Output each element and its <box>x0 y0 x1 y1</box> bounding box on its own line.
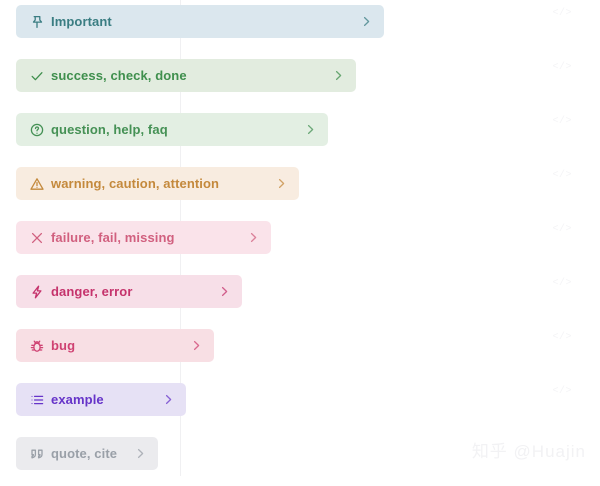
callout-label: danger, error <box>51 284 133 299</box>
callout-row: question, help, faq <box>0 108 600 162</box>
chevron-right-icon[interactable] <box>173 340 202 351</box>
callout-label: failure, fail, missing <box>51 230 175 245</box>
callout-row: bug <box>0 324 600 378</box>
callout-example[interactable]: example <box>16 383 186 416</box>
chevron-right-icon[interactable] <box>117 448 146 459</box>
chevron-right-icon[interactable] <box>145 394 174 405</box>
callout-success[interactable]: success, check, done <box>16 59 356 92</box>
close-x-icon <box>29 230 44 245</box>
question-circle-icon <box>29 122 44 137</box>
callout-list: Importantsuccess, check, donequestion, h… <box>0 0 600 486</box>
callout-important[interactable]: Important <box>16 5 384 38</box>
callout-failure[interactable]: failure, fail, missing <box>16 221 271 254</box>
callout-quote[interactable]: quote, cite <box>16 437 158 470</box>
callout-label: example <box>51 392 104 407</box>
quote-icon <box>29 446 44 461</box>
callout-warning[interactable]: warning, caution, attention <box>16 167 299 200</box>
chevron-right-icon[interactable] <box>201 286 230 297</box>
chevron-right-icon[interactable] <box>287 124 316 135</box>
callout-danger[interactable]: danger, error <box>16 275 242 308</box>
list-icon <box>29 392 44 407</box>
callout-row: Important <box>0 0 600 54</box>
callout-row: success, check, done <box>0 54 600 108</box>
callout-bug[interactable]: bug <box>16 329 214 362</box>
chevron-right-icon[interactable] <box>343 16 372 27</box>
callout-row: warning, caution, attention <box>0 162 600 216</box>
lightning-bolt-icon <box>29 284 44 299</box>
chevron-right-icon[interactable] <box>258 178 287 189</box>
callout-label: warning, caution, attention <box>51 176 219 191</box>
callout-label: question, help, faq <box>51 122 168 137</box>
callout-row: failure, fail, missing <box>0 216 600 270</box>
callout-label: success, check, done <box>51 68 187 83</box>
chevron-right-icon[interactable] <box>230 232 259 243</box>
bug-icon <box>29 338 44 353</box>
warning-triangle-icon <box>29 176 44 191</box>
callout-label: bug <box>51 338 75 353</box>
check-icon <box>29 68 44 83</box>
watermark: 知乎 @Huajin <box>472 437 586 462</box>
callout-label: Important <box>51 14 112 29</box>
callout-label: quote, cite <box>51 446 117 461</box>
pushpin-icon <box>29 14 44 29</box>
callout-row: example <box>0 378 600 432</box>
callout-question[interactable]: question, help, faq <box>16 113 328 146</box>
callout-row: danger, error <box>0 270 600 324</box>
chevron-right-icon[interactable] <box>315 70 344 81</box>
